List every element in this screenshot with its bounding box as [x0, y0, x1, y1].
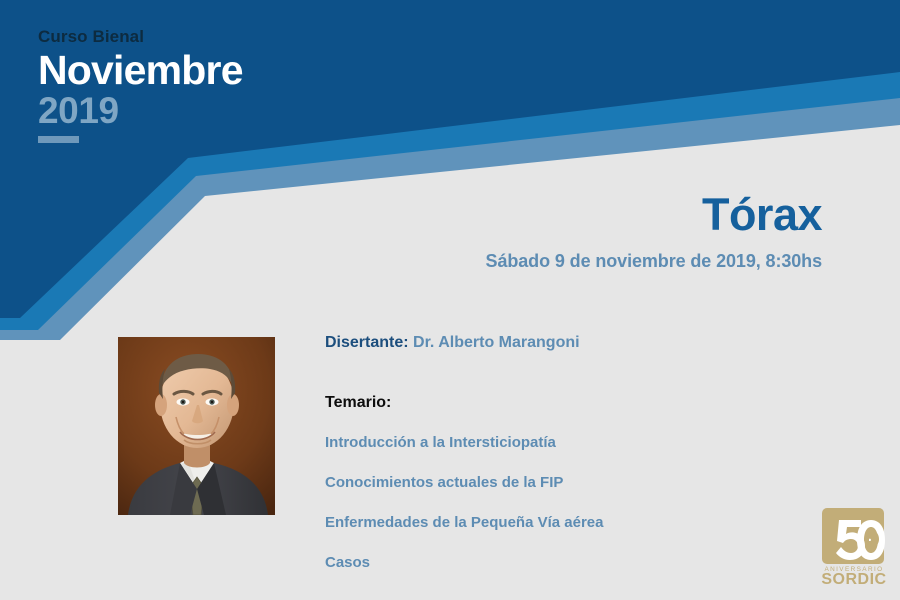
speaker-line: Disertante: Dr. Alberto Marangoni: [325, 333, 795, 352]
event-poster: Curso Bienal Noviembre 2019 Tórax Sábado…: [0, 0, 900, 600]
header-text-block: Curso Bienal Noviembre 2019: [38, 28, 358, 143]
logo-organization-text: SORDIC: [821, 571, 886, 586]
speaker-portrait: [118, 337, 275, 515]
title-block: Tórax Sábado 9 de noviembre de 2019, 8:3…: [486, 192, 822, 272]
list-item: Conocimientos actuales de la FIP: [325, 474, 795, 492]
portrait-image: [118, 337, 275, 515]
course-month: Noviembre: [38, 49, 358, 92]
list-item: Introducción a la Intersticiopatía: [325, 434, 795, 452]
logo-icon: ANIVERSARIO SORDIC: [818, 508, 890, 586]
course-kicker: Curso Bienal: [38, 28, 358, 45]
list-item: Casos: [325, 554, 795, 572]
list-item: Enfermedades de la Pequeña Vía aérea: [325, 514, 795, 532]
sordic-anniversary-logo: ANIVERSARIO SORDIC: [818, 508, 890, 586]
speaker-label: Disertante:: [325, 334, 409, 351]
speaker-name: Dr. Alberto Marangoni: [413, 334, 580, 351]
header-underline-rule: [38, 136, 79, 143]
page-title: Tórax: [486, 192, 822, 237]
details-block: Disertante: Dr. Alberto Marangoni Temari…: [325, 333, 795, 572]
agenda-label: Temario:: [325, 393, 795, 412]
agenda-topic-list: Introducción a la Intersticiopatía Conoc…: [325, 434, 795, 572]
course-year: 2019: [38, 92, 358, 131]
event-date: Sábado 9 de noviembre de 2019, 8:30hs: [486, 251, 822, 272]
